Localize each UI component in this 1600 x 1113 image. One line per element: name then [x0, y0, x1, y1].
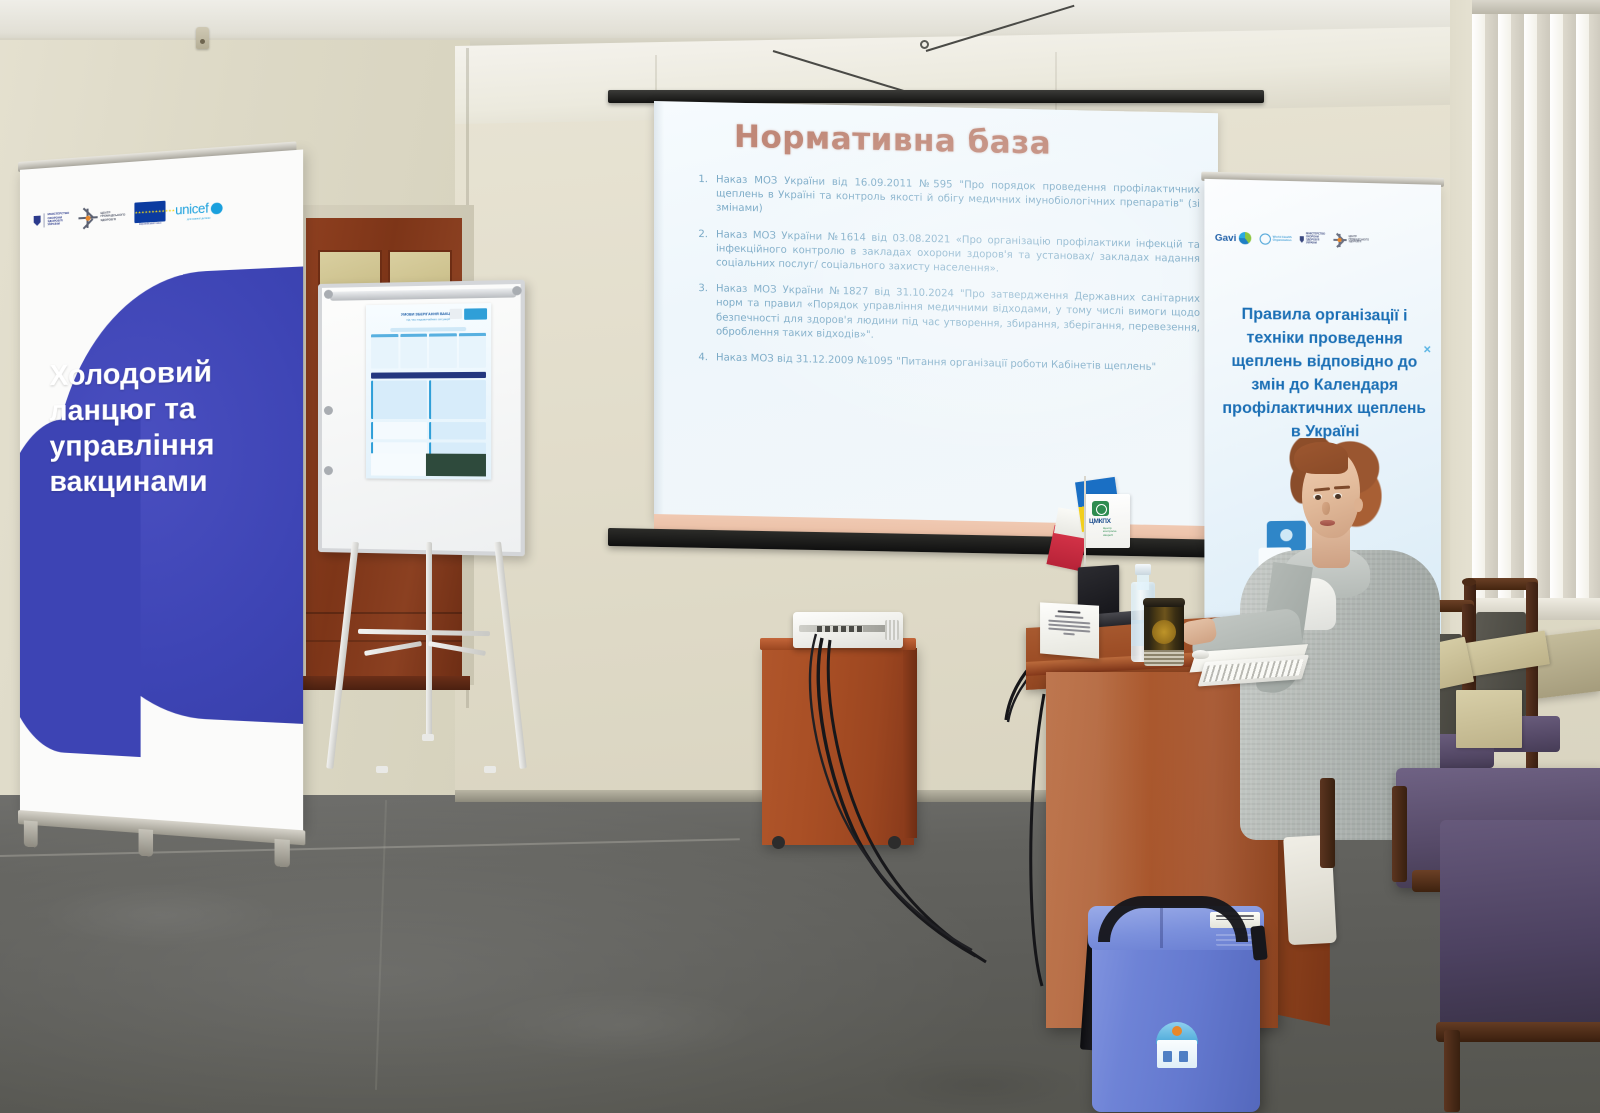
chair-finial	[1462, 578, 1476, 586]
cold-box-label	[1156, 1022, 1198, 1068]
eu-flag-icon	[135, 201, 166, 223]
poster-column	[371, 381, 427, 463]
mouth	[1320, 520, 1335, 526]
cold-box-strap-loop[interactable]	[1098, 896, 1248, 942]
who-logo-label: World HealthOrganization	[1273, 235, 1292, 242]
poster-card-row	[371, 333, 486, 369]
slide-bullet-number: 3.	[692, 282, 708, 339]
unicef-globe-icon	[211, 202, 223, 214]
who-emblem-icon	[1259, 233, 1270, 244]
foreground-chair-frame	[1436, 1022, 1600, 1042]
slide-bullet-number: 4.	[692, 351, 708, 366]
slide-bullet-text: Наказ МОЗ від 31.12.2009 №1095 "Питання …	[716, 351, 1200, 376]
foreground-chair-leg	[1320, 778, 1335, 868]
public-health-center-logo: ЦЕНТРГРОМАДСЬКОГОЗДОРОВ'Я	[1333, 233, 1369, 247]
gavi-swirl-icon	[1238, 232, 1250, 245]
easel-foot	[484, 766, 496, 773]
eyebrow	[1334, 486, 1350, 489]
blind-slat[interactable]	[1524, 14, 1537, 620]
slide-bullet-text: Наказ МОЗ України від 16.09.2011 №595 "П…	[716, 173, 1200, 226]
poster-block	[371, 422, 427, 439]
vial-icon	[1179, 1051, 1188, 1062]
slide-title: Нормативна база	[734, 119, 1200, 165]
public-health-center-logo: ЦЕНТРГРОМАДСЬКОГОЗДОРОВ'Я	[78, 206, 125, 228]
cold-box-body	[1092, 922, 1260, 1112]
ear	[1354, 498, 1363, 512]
crest-icon	[34, 216, 41, 226]
bottle-cap[interactable]	[1135, 564, 1151, 575]
slide-bullet-text: Наказ МОЗ України №1614 від 03.08.2021 «…	[716, 228, 1200, 281]
vertical-blinds[interactable]	[1472, 0, 1600, 620]
gavi-logo: Gavi	[1215, 231, 1251, 244]
mouse[interactable]	[1192, 650, 1209, 659]
foreground-chair-leg	[1392, 786, 1407, 882]
easel-crossbar	[428, 641, 486, 656]
eyebrow	[1314, 487, 1330, 491]
name-card-line	[1058, 610, 1081, 613]
blind-slat[interactable]	[1511, 14, 1524, 620]
infographic-poster: УМОВИ ЗБЕРІГАННЯ ВАКЦИН під час надзвича…	[366, 303, 491, 480]
canister-base-rings	[1144, 650, 1184, 666]
blind-slat[interactable]	[1589, 14, 1600, 620]
slide-bullet-list: 1.Наказ МОЗ України від 16.09.2011 №595 …	[690, 173, 1200, 376]
easel-crossbar	[358, 629, 490, 636]
hair-fringe	[1294, 442, 1348, 474]
name-card	[1040, 602, 1099, 658]
poster-footer-note	[371, 453, 426, 476]
screen-canvas: Нормативна база 1.Наказ МОЗ України від …	[654, 101, 1218, 533]
slide-bullet-text: Наказ МОЗ України №1827 від 31.10.2024 "…	[716, 283, 1200, 350]
blind-slat[interactable]	[1498, 14, 1511, 620]
compass-star-icon	[1333, 233, 1346, 246]
eye	[1335, 494, 1341, 499]
blind-slat[interactable]	[1576, 14, 1589, 620]
poster-card	[458, 333, 486, 368]
eu-logo-caption: Європейський Союз	[135, 223, 166, 227]
poster-block	[429, 380, 486, 419]
easel-leg	[326, 542, 359, 769]
flipchart-clip-icon[interactable]	[512, 286, 521, 295]
blind-slat[interactable]	[1537, 14, 1550, 620]
name-card-line	[1063, 633, 1074, 636]
canister-emblem-icon	[1152, 620, 1176, 644]
slide-bullet: 1.Наказ МОЗ України від 16.09.2011 №595 …	[692, 173, 1200, 227]
poster-header-bar	[371, 372, 486, 379]
poster-card	[371, 334, 398, 369]
flag-abbreviation: ЦМКПХ	[1089, 518, 1111, 525]
divider	[44, 213, 45, 227]
nose	[1322, 502, 1330, 515]
easel-leg	[426, 542, 432, 738]
sparkle-icon: ✕	[1423, 345, 1431, 356]
slide-bullet-number: 1.	[692, 173, 708, 216]
banner-left-headline: Холодовий ланцюг та управління вакцинами	[50, 352, 285, 500]
cold-box-label-body	[1157, 1040, 1197, 1068]
vaccine-cold-box[interactable]	[1084, 878, 1262, 1113]
unicef-wordmark: unicef	[175, 201, 208, 218]
flipchart-clip-icon[interactable]	[324, 466, 333, 475]
banner-face: МІНІСТЕРСТВООХОРОНИЗДОРОВ'ЯУКРАЇНИ ЦЕНТР…	[20, 149, 303, 830]
banner-logo-row: МІНІСТЕРСТВООХОРОНИЗДОРОВ'ЯУКРАЇНИ ЦЕНТР…	[34, 186, 295, 239]
banner-logo-row: Gavi World HealthOrganization МІНІСТЕРСТ…	[1215, 224, 1431, 254]
slide-content: Нормативна база 1.Наказ МОЗ України від …	[690, 118, 1200, 388]
moh-logo-label: МІНІСТЕРСТВООХОРОНИЗДОРОВ'ЯУКРАЇНИ	[1306, 233, 1325, 245]
banner-leg	[24, 820, 38, 847]
center-dot-icon	[85, 215, 90, 220]
presenter-head	[1288, 440, 1376, 544]
flag-organisation: ЦМКПХ Центрконтролюхвороб	[1086, 494, 1130, 548]
bottle-neck	[1137, 574, 1149, 590]
name-card-line	[1055, 615, 1084, 619]
cph-logo-label: ЦЕНТРГРОМАДСЬКОГОЗДОРОВ'Я	[100, 210, 125, 222]
poster-logo-tag	[464, 308, 487, 320]
slide-bullet: 3.Наказ МОЗ України №1827 від 31.10.2024…	[692, 282, 1200, 350]
poster-body	[371, 380, 486, 463]
unicef-tagline: для кожної дитини	[187, 217, 211, 222]
moh-logo-label: МІНІСТЕРСТВООХОРОНИЗДОРОВ'ЯУКРАЇНИ	[48, 212, 70, 227]
foreground-chair-leg	[1444, 1030, 1460, 1112]
flipchart-clip-icon[interactable]	[324, 406, 333, 415]
vial-icon	[1163, 1051, 1172, 1062]
poster-block	[371, 381, 427, 420]
compass-star-icon	[78, 208, 97, 228]
canister-lid[interactable]	[1143, 598, 1185, 607]
blind-slat[interactable]	[1563, 14, 1576, 620]
photo-scene: Нормативна база 1.Наказ МОЗ України від …	[0, 0, 1600, 1113]
easel-crossbar	[364, 641, 422, 656]
gavi-wordmark: Gavi	[1215, 232, 1236, 244]
projection-screen: Нормативна база 1.Наказ МОЗ України від …	[608, 40, 1268, 550]
poster-badge	[450, 309, 462, 319]
eu-flag-logo: Європейський Союз	[135, 201, 166, 227]
poster-column	[429, 380, 486, 463]
poster-block	[429, 422, 486, 439]
poster-section-label	[390, 327, 466, 332]
eye	[1315, 495, 1321, 500]
flag-org-text: Центрконтролюхвороб	[1103, 527, 1129, 537]
cph-logo-label: ЦЕНТРГРОМАДСЬКОГОЗДОРОВ'Я	[1349, 236, 1369, 245]
banner-leg	[275, 839, 290, 868]
flipchart-board[interactable]: УМОВИ ЗБЕРІГАННЯ ВАКЦИН під час надзвича…	[318, 280, 525, 557]
cardboard-box[interactable]	[1456, 690, 1522, 748]
slide-bullet-number: 2.	[692, 227, 708, 270]
blind-slat[interactable]	[1485, 14, 1498, 620]
easel-leg	[494, 542, 527, 769]
poster-card	[429, 334, 456, 369]
blind-slat[interactable]	[1472, 14, 1485, 620]
slide-bullet: 4.Наказ МОЗ від 31.12.2009 №1095 "Питанн…	[692, 351, 1200, 376]
easel-legs	[336, 542, 516, 772]
banner-leg	[139, 829, 153, 857]
easel-foot	[422, 734, 434, 741]
screen-hook-icon	[920, 40, 929, 49]
flipchart-clamp-rail[interactable]	[330, 288, 516, 301]
blind-slat[interactable]	[1550, 14, 1563, 620]
crest-icon	[1300, 236, 1304, 243]
flag-emblem-icon	[1092, 501, 1109, 516]
screen-top-bar	[608, 90, 1264, 103]
foreground-chair-seat[interactable]	[1440, 820, 1600, 1030]
moh-ukraine-logo: МІНІСТЕРСТВООХОРОНИЗДОРОВ'ЯУКРАЇНИ	[34, 212, 69, 228]
rollup-banner-left: МІНІСТЕРСТВООХОРОНИЗДОРОВ'ЯУКРАЇНИ ЦЕНТР…	[18, 139, 326, 845]
name-card-line	[1048, 627, 1090, 632]
easel-foot	[376, 766, 388, 773]
moh-ukraine-logo: МІНІСТЕРСТВООХОРОНИЗДОРОВ'ЯУКРАЇНИ	[1300, 233, 1325, 245]
slide-bullet: 2.Наказ МОЗ України №1614 від 03.08.2021…	[692, 227, 1200, 281]
wall-sensor-icon	[196, 27, 209, 49]
flipchart-easel: УМОВИ ЗБЕРІГАННЯ ВАКЦИН під час надзвича…	[318, 284, 528, 784]
poster-card	[400, 334, 427, 369]
unicef-logo: unicef для кожної дитини	[175, 200, 222, 222]
who-logo: World HealthOrganization	[1259, 233, 1291, 245]
